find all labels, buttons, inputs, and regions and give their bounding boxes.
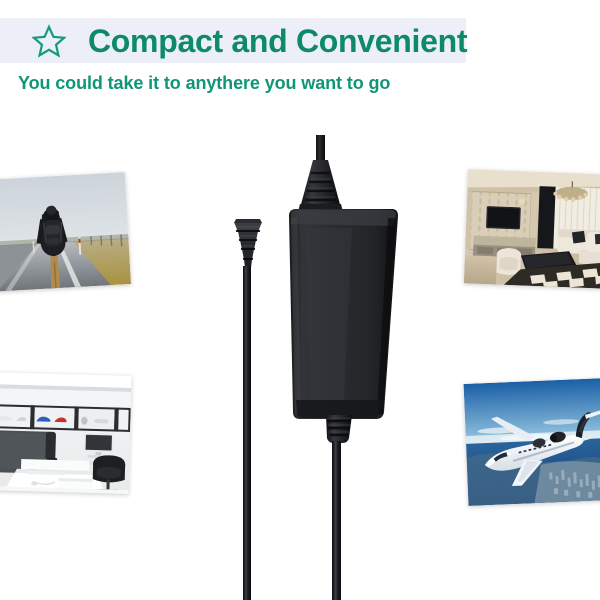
office-photo-inner [0,372,132,494]
airplane-photo-inner [464,378,600,506]
product-feature-banner: Compact and Convenient You could take it… [0,0,600,600]
hiker-photo-inner [0,172,131,292]
private-jet-photo [464,378,600,506]
luxury-living-room-photo [464,169,600,288]
living-room-photo-inner [464,169,600,288]
page-title: Compact and Convenient [88,25,467,57]
page-subtitle: You could take it to anythere you want t… [18,73,390,94]
star-outline-icon [32,24,66,58]
modern-white-office-photo [0,372,132,494]
hiker-on-road-photo [0,172,131,292]
header: Compact and Convenient [0,18,466,63]
